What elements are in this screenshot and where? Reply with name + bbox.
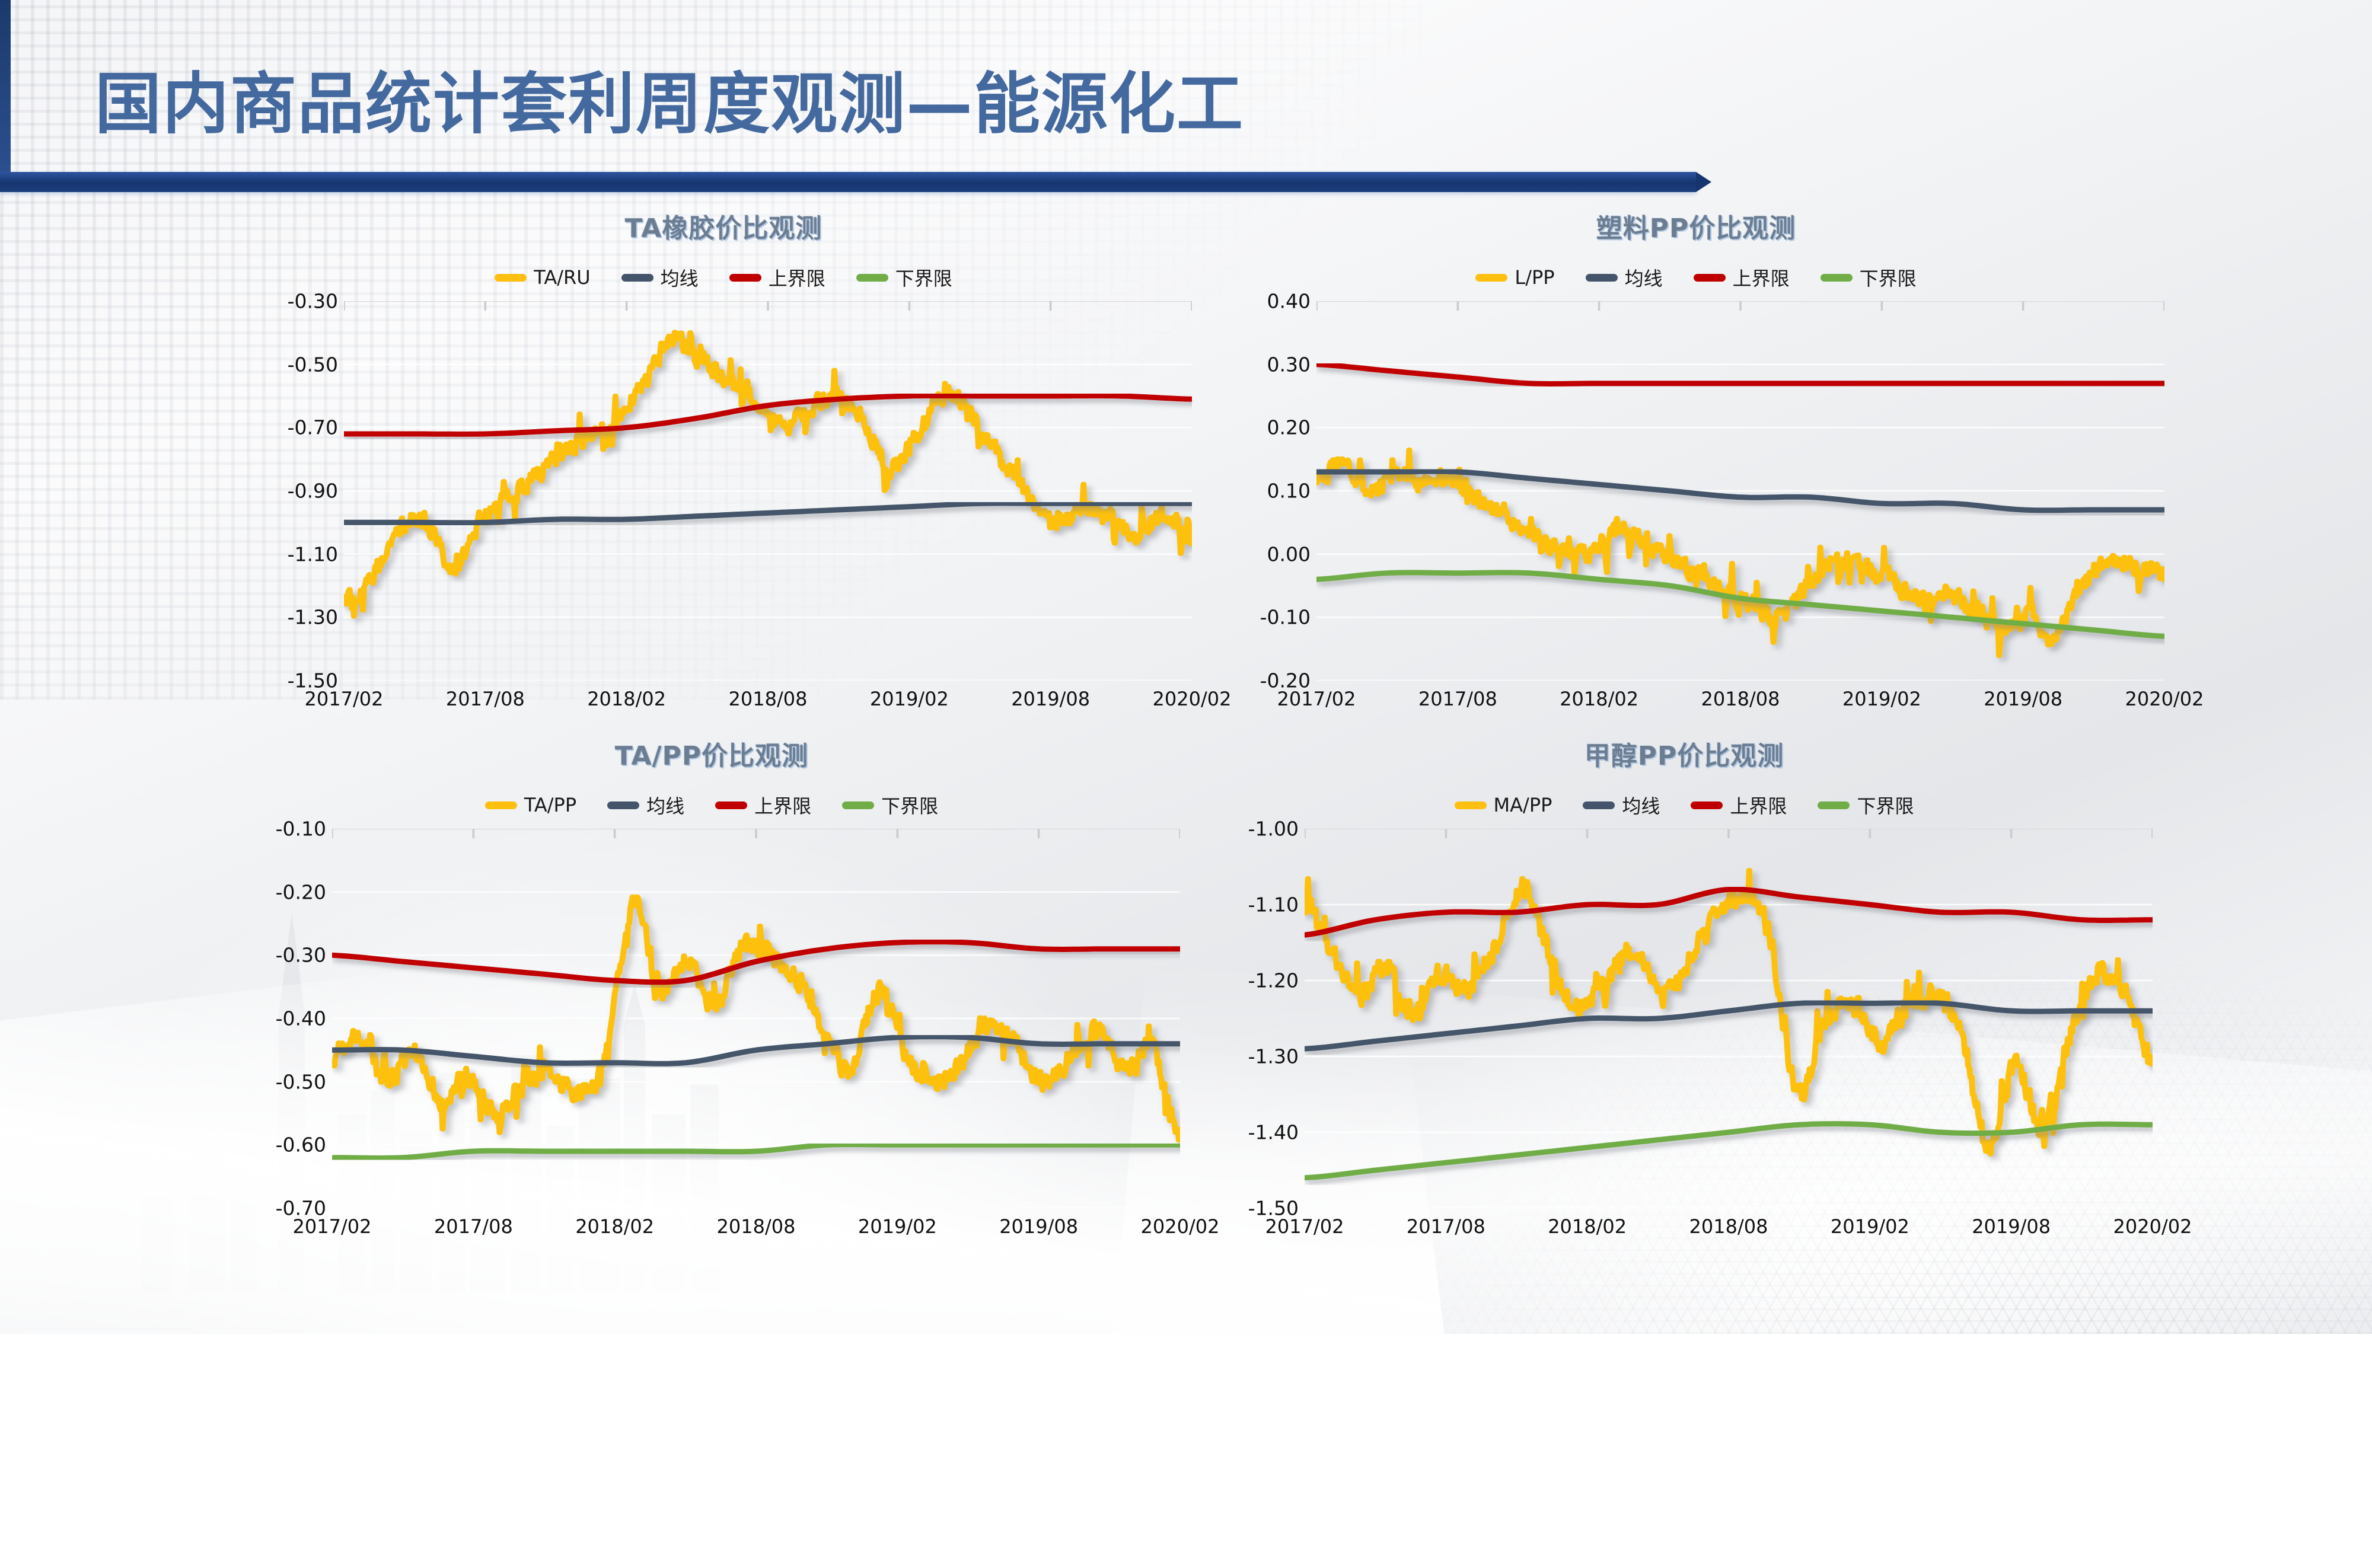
chart-legend: L/PP 均线 上界限 下界限 bbox=[1222, 262, 2170, 293]
legend-swatch-series bbox=[1475, 274, 1507, 282]
y-axis-tick-label: -0.90 bbox=[288, 480, 338, 503]
legend-swatch-upper bbox=[729, 274, 761, 282]
x-axis-tick-label: 2017/08 bbox=[1407, 1215, 1485, 1238]
title-left-accent-bar bbox=[0, 0, 11, 178]
legend-item-mean[interactable]: 均线 bbox=[1586, 264, 1663, 291]
legend-item-series[interactable]: TA/PP bbox=[485, 794, 576, 816]
y-axis-tick-label: -1.00 bbox=[1248, 817, 1299, 841]
plot-canvas bbox=[332, 829, 1180, 1208]
plot-canvas bbox=[344, 301, 1192, 681]
legend-item-mean[interactable]: 均线 bbox=[1583, 791, 1660, 819]
x-axis-tick-label: 2018/08 bbox=[1689, 1215, 1768, 1238]
chart-title: 塑料PP价比观测 bbox=[1222, 213, 2170, 244]
legend-item-lower[interactable]: 下界限 bbox=[1821, 264, 1917, 291]
legend-label-series: TA/PP bbox=[524, 794, 576, 816]
y-axis-tick-label: -1.30 bbox=[1248, 1045, 1299, 1068]
y-axis-tick-label: -0.30 bbox=[288, 290, 338, 313]
y-axis-tick-label: -1.30 bbox=[288, 606, 338, 629]
x-axis-tick-label: 2017/08 bbox=[446, 688, 525, 710]
plot-area-wrapper: -1.00-1.10-1.20-1.30-1.40-1.50 2017/0220… bbox=[1210, 829, 2159, 1256]
legend-swatch-lower bbox=[1818, 801, 1850, 809]
legend-swatch-mean bbox=[621, 274, 653, 282]
y-axis-tick-label: -1.10 bbox=[1248, 893, 1299, 916]
x-axis-tick-label: 2019/02 bbox=[1842, 688, 1921, 710]
legend-label-upper: 上界限 bbox=[1733, 264, 1790, 291]
legend-swatch-series bbox=[1455, 801, 1487, 809]
x-axis-tick-label: 2019/08 bbox=[1011, 688, 1090, 710]
legend-item-series[interactable]: MA/PP bbox=[1455, 794, 1552, 816]
chart-legend: TA/PP 均线 上界限 下界限 bbox=[237, 790, 1186, 820]
y-axis-tick-label: 0.10 bbox=[1267, 480, 1311, 503]
series-line-upper-bound bbox=[1316, 365, 2164, 384]
legend-item-series[interactable]: L/PP bbox=[1475, 266, 1554, 289]
x-axis-tick-label: 2020/02 bbox=[1141, 1215, 1220, 1238]
x-axis-tick-label: 2019/08 bbox=[1972, 1215, 2051, 1238]
page-title: 国内商品统计套利周度观测—能源化工 bbox=[95, 71, 1244, 138]
series-group bbox=[332, 896, 1180, 1158]
y-axis-tick-label: -0.10 bbox=[1260, 606, 1311, 629]
legend-swatch-mean bbox=[607, 801, 639, 809]
x-axis-tick-label: 2017/02 bbox=[1277, 688, 1356, 710]
legend-item-lower[interactable]: 下界限 bbox=[856, 264, 952, 291]
plot-canvas bbox=[1316, 301, 2164, 681]
plot-area-wrapper: 0.400.300.200.100.00-0.10-0.20 2017/0220… bbox=[1222, 301, 2170, 728]
x-axis-tick-label: 2020/02 bbox=[2113, 1215, 2192, 1238]
y-axis-tick-label: -0.10 bbox=[276, 817, 326, 841]
y-axis-tick-label: 0.40 bbox=[1267, 290, 1311, 313]
x-axis-tick-label: 2019/02 bbox=[1831, 1215, 1909, 1238]
series-line-lower-bound bbox=[332, 1145, 1180, 1158]
y-axis-tick-label: -1.40 bbox=[1248, 1121, 1299, 1144]
gridlines bbox=[1305, 829, 2153, 1208]
y-axis-tick-label: 0.20 bbox=[1267, 416, 1311, 439]
x-axis-tick-label: 2017/02 bbox=[293, 1215, 372, 1238]
x-axis-labels: 2017/022017/082018/022018/082019/022019/… bbox=[344, 688, 1192, 721]
y-axis-labels: 0.400.300.200.100.00-0.10-0.20 bbox=[1222, 301, 1311, 681]
chart-ta-ru: TA橡胶价比观测 TA/RU 均线 上界限 下界限 -0.30-0.50-0.7… bbox=[249, 213, 1198, 747]
legend-label-lower: 下界限 bbox=[881, 791, 938, 819]
y-axis-tick-label: -1.10 bbox=[288, 542, 338, 566]
series-group bbox=[344, 332, 1192, 624]
chart-title: TA橡胶价比观测 bbox=[249, 213, 1198, 244]
charts-grid: TA橡胶价比观测 TA/RU 均线 上界限 下界限 -0.30-0.50-0.7… bbox=[0, 213, 2372, 1328]
legend-item-mean[interactable]: 均线 bbox=[607, 791, 684, 819]
x-axis-tick-label: 2018/02 bbox=[1548, 1215, 1627, 1238]
legend-swatch-lower bbox=[842, 801, 874, 809]
legend-item-upper[interactable]: 上界限 bbox=[729, 264, 825, 291]
y-axis-labels: -0.10-0.20-0.30-0.40-0.50-0.60-0.70 bbox=[237, 829, 326, 1208]
title-band: 国内商品统计套利周度观测—能源化工 bbox=[0, 0, 1702, 196]
y-axis-labels: -1.00-1.10-1.20-1.30-1.40-1.50 bbox=[1210, 829, 1299, 1208]
x-axis-labels: 2017/022017/082018/022018/082019/022019/… bbox=[1316, 688, 2164, 721]
chart-ta-pp: TA/PP价比观测 TA/PP 均线 上界限 下界限 -0.10-0.20-0.… bbox=[237, 741, 1186, 1275]
plot-area-wrapper: -0.10-0.20-0.30-0.40-0.50-0.60-0.70 2017… bbox=[237, 829, 1186, 1256]
legend-item-mean[interactable]: 均线 bbox=[621, 264, 699, 291]
y-axis-tick-label: -0.20 bbox=[276, 880, 326, 903]
legend-item-upper[interactable]: 上界限 bbox=[715, 791, 811, 819]
legend-label-mean: 均线 bbox=[646, 791, 684, 819]
series-line-mean bbox=[332, 1037, 1180, 1064]
y-axis-tick-label: -0.70 bbox=[288, 416, 338, 439]
legend-label-upper: 上界限 bbox=[1730, 791, 1787, 819]
legend-swatch-lower bbox=[856, 274, 888, 282]
legend-swatch-upper bbox=[1694, 274, 1726, 282]
chart-title: 甲醇PP价比观测 bbox=[1210, 741, 2159, 772]
x-axis-tick-label: 2019/08 bbox=[999, 1215, 1078, 1238]
legend-label-mean: 均线 bbox=[1622, 791, 1660, 819]
legend-label-lower: 下界限 bbox=[1857, 791, 1914, 819]
legend-swatch-lower bbox=[1821, 274, 1853, 282]
plot-canvas bbox=[1305, 829, 2153, 1208]
legend-swatch-series bbox=[485, 801, 517, 809]
x-axis-tick-label: 2018/08 bbox=[717, 1215, 796, 1238]
legend-swatch-mean bbox=[1583, 801, 1615, 809]
chart-legend: TA/RU 均线 上界限 下界限 bbox=[249, 262, 1198, 293]
x-axis-tick-label: 2017/02 bbox=[1265, 1215, 1344, 1238]
legend-label-series: MA/PP bbox=[1494, 794, 1552, 816]
x-axis-labels: 2017/022017/082018/022018/082019/022019/… bbox=[332, 1215, 1180, 1248]
x-axis-tick-label: 2017/08 bbox=[434, 1215, 513, 1238]
chart-legend: MA/PP 均线 上界限 下界限 bbox=[1210, 790, 2159, 820]
x-axis-tick-label: 2019/02 bbox=[870, 688, 949, 710]
y-axis-tick-label: 0.30 bbox=[1267, 353, 1311, 376]
y-axis-tick-label: -0.30 bbox=[276, 944, 326, 967]
x-axis-tick-label: 2018/02 bbox=[587, 688, 666, 710]
x-axis-tick-label: 2018/08 bbox=[729, 688, 808, 710]
legend-label-series: L/PP bbox=[1515, 266, 1554, 289]
y-axis-tick-label: -0.50 bbox=[276, 1070, 326, 1093]
legend-label-series: TA/RU bbox=[534, 266, 590, 289]
title-underline-bar bbox=[0, 172, 1696, 192]
legend-item-lower[interactable]: 下界限 bbox=[842, 791, 938, 819]
series-group bbox=[1316, 365, 2164, 656]
legend-swatch-series bbox=[495, 274, 527, 282]
series-line-data bbox=[344, 332, 1192, 617]
legend-swatch-upper bbox=[715, 801, 747, 809]
x-axis-tick-label: 2019/02 bbox=[858, 1215, 937, 1238]
legend-item-series[interactable]: TA/RU bbox=[495, 266, 590, 289]
legend-swatch-upper bbox=[1691, 801, 1723, 809]
slide-canvas: 国内商品统计套利周度观测—能源化工 TA橡胶价比观测 TA/RU 均线 上界限 … bbox=[0, 0, 2372, 1334]
legend-label-upper: 上界限 bbox=[754, 791, 811, 819]
x-axis-tick-label: 2017/08 bbox=[1418, 688, 1497, 710]
y-axis-tick-label: -0.60 bbox=[276, 1133, 326, 1157]
legend-label-mean: 均线 bbox=[661, 264, 699, 291]
legend-swatch-mean bbox=[1586, 274, 1618, 282]
legend-item-lower[interactable]: 下界限 bbox=[1818, 791, 1914, 819]
y-axis-tick-label: -0.40 bbox=[276, 1007, 326, 1030]
plot-area-wrapper: -0.30-0.50-0.70-0.90-1.10-1.30-1.50 2017… bbox=[249, 301, 1198, 728]
x-axis-tick-label: 2018/02 bbox=[1560, 688, 1638, 710]
legend-item-upper[interactable]: 上界限 bbox=[1691, 791, 1787, 819]
legend-label-mean: 均线 bbox=[1625, 264, 1663, 291]
legend-label-upper: 上界限 bbox=[769, 264, 825, 291]
legend-item-upper[interactable]: 上界限 bbox=[1694, 264, 1790, 291]
chart-ma-pp: 甲醇PP价比观测 MA/PP 均线 上界限 下界限 -1.00-1.10-1.2… bbox=[1210, 741, 2159, 1275]
y-axis-tick-label: -0.50 bbox=[288, 353, 338, 376]
series-line-mean bbox=[1305, 1003, 2153, 1049]
chart-title: TA/PP价比观测 bbox=[237, 741, 1186, 772]
x-axis-tick-label: 2017/02 bbox=[305, 688, 384, 710]
x-axis-tick-label: 2019/08 bbox=[1984, 688, 2062, 710]
legend-label-lower: 下界限 bbox=[895, 264, 952, 291]
x-axis-labels: 2017/022017/082018/022018/082019/022019/… bbox=[1305, 1215, 2153, 1248]
y-axis-labels: -0.30-0.50-0.70-0.90-1.10-1.30-1.50 bbox=[249, 301, 338, 681]
y-axis-tick-label: 0.00 bbox=[1267, 542, 1311, 566]
x-axis-tick-label: 2018/08 bbox=[1701, 688, 1780, 710]
chart-l-pp: 塑料PP价比观测 L/PP 均线 上界限 下界限 0.400.300.200.1… bbox=[1222, 213, 2170, 747]
y-axis-tick-label: -1.20 bbox=[1248, 969, 1299, 992]
x-axis-tick-label: 2018/02 bbox=[575, 1215, 654, 1238]
x-axis-tick-label: 2020/02 bbox=[2125, 688, 2204, 710]
x-axis-tick-label: 2020/02 bbox=[1153, 688, 1232, 710]
legend-label-lower: 下界限 bbox=[1860, 264, 1917, 291]
